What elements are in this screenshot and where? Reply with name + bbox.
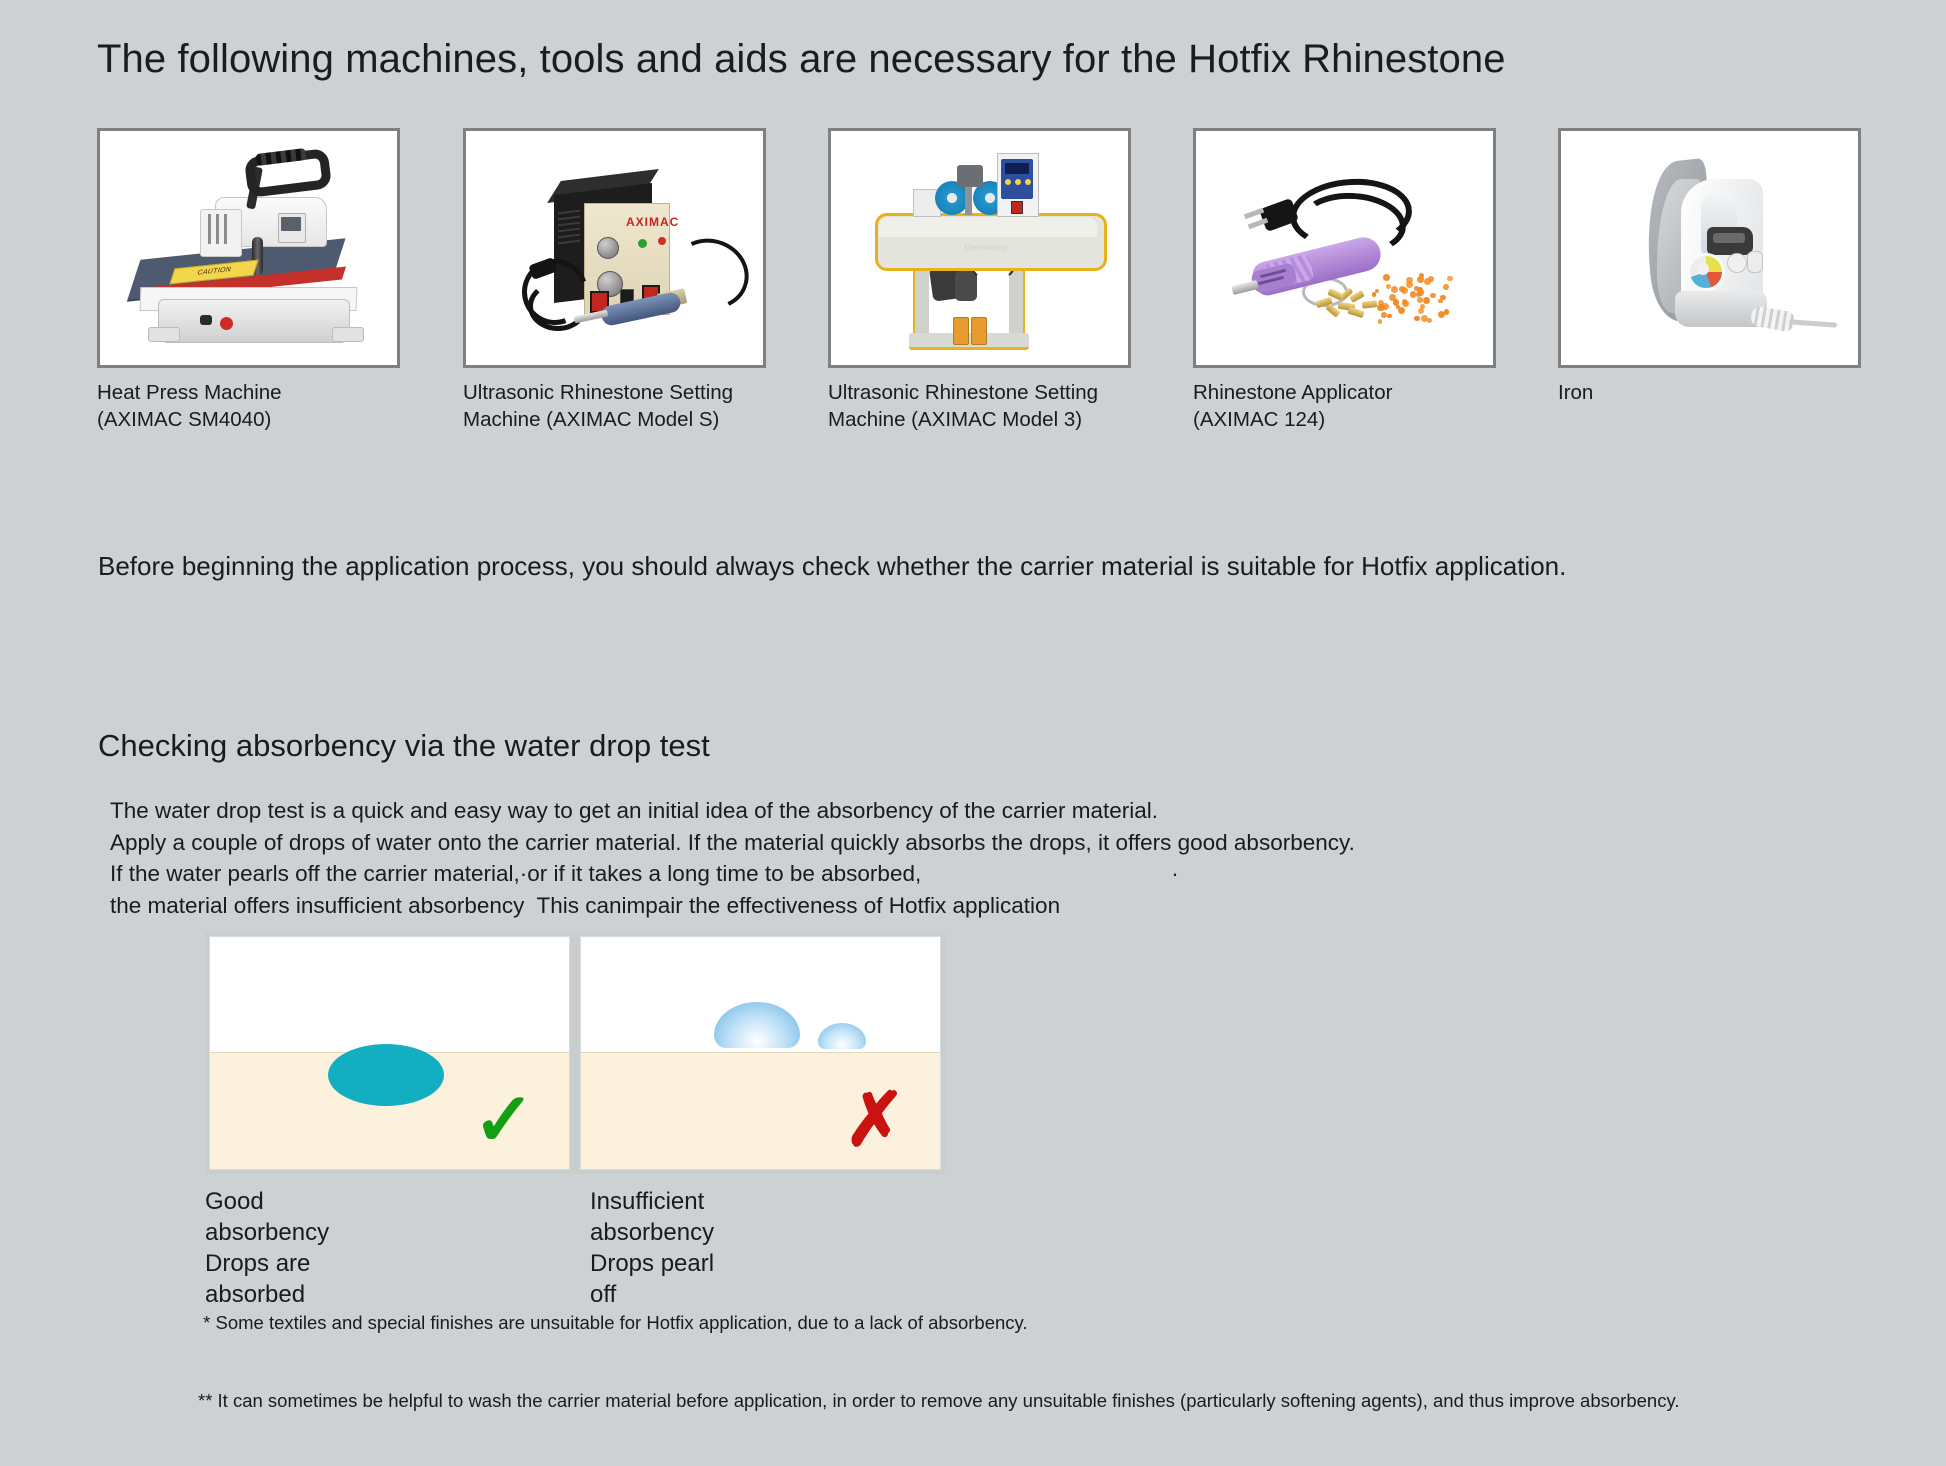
water-drop-test-figure: ✓ ✗ [205,932,945,1174]
panel-good-absorbency: ✓ [209,936,570,1170]
rhinestone-icon [1414,286,1419,291]
aximac-logo: AXIMAC [626,215,676,229]
heat-press-red-knob-icon [220,317,233,330]
under-table-motor-icon [955,271,977,301]
rhinestone-icon [1399,286,1405,292]
rhinestone-icon [1424,278,1431,285]
product-card-heat-press-machine: CAUTION Heat Press Machine (AXIMAC SM404… [97,128,400,433]
check-icon: ✓ [473,1083,535,1157]
rhinestone-icon [1406,281,1413,288]
product-image-heat-press-machine: CAUTION [97,128,400,368]
table-brand-watermark: Diehanming [941,243,1031,252]
cross-icon: ✗ [844,1083,906,1157]
product-image-rhinestone-applicator [1193,128,1496,368]
green-led-icon [638,239,647,248]
iron-cord-icon [1789,319,1837,327]
rhinestone-icon [1418,289,1425,296]
document-page: The following machines, tools and aids a… [0,0,1946,1384]
table-foot-rail-icon [909,333,1029,350]
product-caption: Heat Press Machine (AXIMAC SM4040) [97,379,400,433]
pearling-drop-small-icon [818,1023,866,1049]
power-cord-icon [528,281,588,331]
product-image-ultrasonic-setting-machine-model-3: Diehanming [828,128,1131,368]
product-caption: Ultrasonic Rhinestone Setting Machine (A… [463,379,766,433]
rhinestone-icon [1410,291,1417,298]
heat-press-display-screen-icon [281,217,301,231]
pearling-drop-large-icon [714,1002,800,1048]
product-caption: Iron [1558,379,1861,406]
applicator-tip-icon [1231,280,1258,295]
rhinestone-icon [1372,292,1376,296]
generator-vent-icon [558,208,580,249]
rhinestone-icon [1386,284,1391,289]
heat-press-fin-icon [208,214,211,244]
iron-spray-button-icon [1747,251,1763,273]
product-caption: Ultrasonic Rhinestone Setting Machine (A… [828,379,1131,433]
rhinestones-group-icon [1372,273,1454,323]
footnotes: * Some textiles and special finishes are… [198,1258,1679,1466]
product-caption: Rhinestone Applicator (AXIMAC 124) [1193,379,1496,433]
control-panel-power-switch-icon [1011,201,1023,214]
heat-press-black-knob-icon [200,315,212,325]
control-panel-display-icon [1005,163,1029,174]
footnote: ** It can sometimes be helpful to wash t… [198,1388,1679,1414]
intro-paragraph: Before beginning the application process… [98,549,1566,583]
body-text: The water drop test is a quick and easy … [110,795,1355,921]
heat-press-foot-left-icon [148,327,180,342]
foot-pedal-icon [971,317,987,345]
setting-head-icon [957,165,983,187]
rhinestone-icon [1391,286,1398,293]
product-card-ultrasonic-setting-machine-model-3: Diehanming Ultrasonic Rhinestone Setting… [828,128,1131,433]
heat-press-foot-right-icon [332,327,364,342]
rhinestone-icon [1418,308,1424,314]
red-led-icon [658,237,666,245]
rhinestone-icon [1414,316,1420,322]
page-title: The following machines, tools and aids a… [97,37,1506,82]
rhinestone-icon [1443,284,1449,290]
section-heading: Checking absorbency via the water drop t… [98,728,710,764]
body-line: The water drop test is a quick and easy … [110,795,1355,827]
product-image-ultrasonic-setting-machine-model-s: AXIMAC [463,128,766,368]
brass-tips-group-icon [1314,289,1380,321]
product-card-rhinestone-applicator: Rhinestone Applicator (AXIMAC 124) [1193,128,1496,433]
product-card-ultrasonic-setting-machine-model-s: AXIMAC Ultrasonic Rhinestone Setting Mac… [463,128,766,433]
setting-head-arm-icon [965,183,972,215]
rhinestone-icon [1430,293,1435,298]
footnote: * Some textiles and special finishes are… [198,1310,1679,1336]
rhinestone-icon [1387,314,1391,318]
foot-pedal-icon [953,317,969,345]
control-panel-button-icon [1025,179,1031,185]
heat-press-fin-icon [216,214,219,244]
body-line: Apply a couple of drops of water onto th… [110,827,1355,859]
rhinestone-icon [1440,295,1446,301]
rhinestone-icon [1447,276,1452,281]
panel-insufficient-absorbency: ✗ [580,936,941,1170]
rhinestone-icon [1417,297,1423,303]
body-line: the material offers insufficient absorbe… [110,890,1355,922]
product-card-iron: Iron [1558,128,1861,406]
heat-press-fin-icon [224,214,227,244]
iron-steam-button-icon [1727,253,1747,273]
rhinestone-icon [1378,319,1383,324]
absorbed-drop-icon [328,1044,444,1106]
body-line: If the water pearls off the carrier mate… [110,858,1355,890]
table-top-highlight-icon [879,217,1097,237]
rhinestone-icon [1444,309,1450,315]
iron-handle-insert-icon [1713,233,1745,243]
control-panel-button-icon [1005,179,1011,185]
iron-dial-center-icon [1697,263,1709,275]
brass-tip-icon [1347,307,1364,319]
rhinestone-icon [1381,312,1387,318]
product-gallery: CAUTION Heat Press Machine (AXIMAC SM404… [97,128,1887,438]
rhinestone-icon [1378,300,1384,306]
heat-press-base-icon [158,299,350,343]
rhinestone-icon [1423,297,1430,304]
control-panel-button-icon [1015,179,1021,185]
rhinestone-icon [1383,274,1390,281]
generator-knob-icon [597,237,619,259]
product-image-iron [1558,128,1861,368]
heat-press-fins-icon [200,209,242,257]
rhinestone-icon [1402,300,1409,307]
